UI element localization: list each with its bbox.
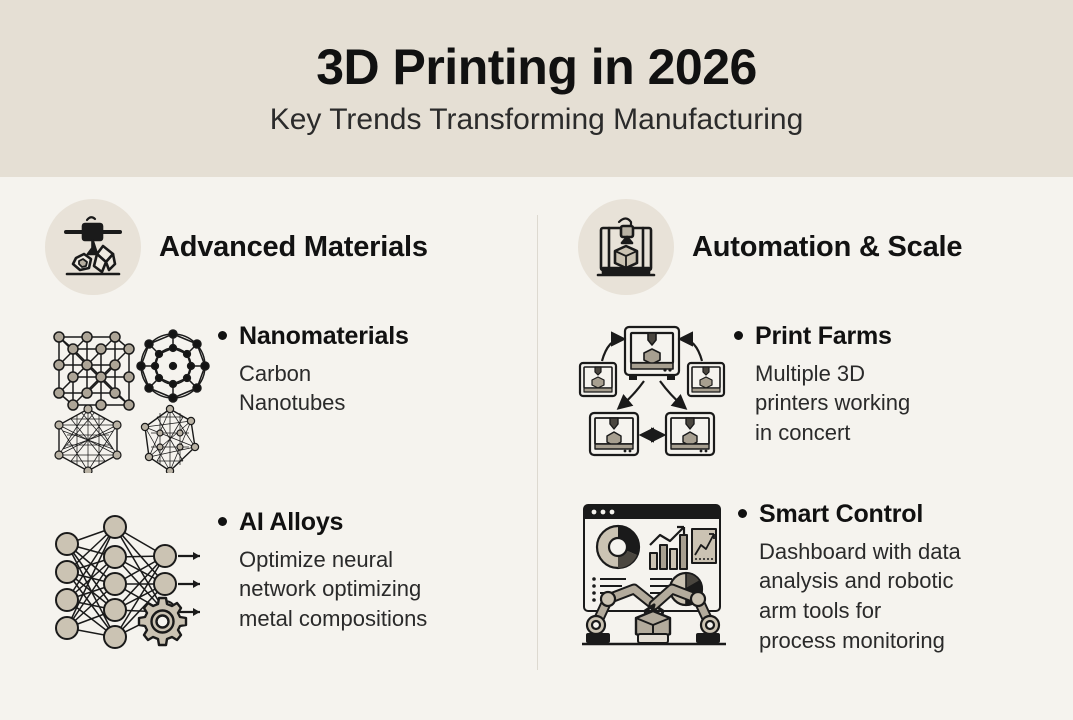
- feature-description: Carbon Nanotubes: [218, 359, 545, 419]
- feature-ai-alloys: AI Alloys Optimize neural network optimi…: [45, 505, 545, 654]
- feature-headline: Smart Control: [738, 501, 1073, 529]
- feature-description: Dashboard with data analysis and robotic…: [738, 537, 1073, 657]
- neural-network-gear-icon: [45, 505, 210, 654]
- feature-description-line: in concert: [755, 418, 1073, 448]
- header-band: 3D Printing in 2026 Key Trends Transform…: [0, 0, 1073, 177]
- feature-description-line: Dashboard with data: [759, 537, 1073, 567]
- feature-description-line: network optimizing: [239, 574, 545, 604]
- feature-description-line: metal compositions: [239, 604, 545, 634]
- feature-smart-control: Smart Control Dashboard with data analys…: [578, 497, 1073, 656]
- feature-text-nanomaterials: Nanomaterials Carbon Nanotubes: [218, 319, 545, 418]
- feature-description-line: Multiple 3D: [755, 359, 1073, 389]
- feature-headline: AI Alloys: [218, 509, 545, 537]
- feature-description-line: process monitoring: [759, 626, 1073, 656]
- page-subtitle: Key Trends Transforming Manufacturing: [270, 103, 804, 136]
- feature-description-line: Carbon: [239, 359, 545, 389]
- column-header-advanced-materials: Advanced Materials: [45, 177, 545, 287]
- bullet-icon: [218, 517, 227, 526]
- feature-description: Multiple 3D printers working in concert: [734, 359, 1073, 449]
- feature-description-line: Optimize neural: [239, 545, 545, 575]
- feature-headline: Nanomaterials: [218, 323, 545, 351]
- 3d-printer-extruder-icon: [45, 199, 141, 295]
- column-title: Advanced Materials: [159, 231, 428, 264]
- feature-title: Smart Control: [759, 501, 923, 529]
- feature-text-print-farms: Print Farms Multiple 3D printers working…: [734, 319, 1073, 448]
- feature-title: Nanomaterials: [239, 323, 409, 351]
- feature-description: Optimize neural network optimizing metal…: [218, 545, 545, 635]
- content-area: Advanced Materials: [0, 177, 1073, 720]
- feature-description-line: arm tools for: [759, 596, 1073, 626]
- printer-network-icon: [578, 319, 726, 465]
- column-header-automation-scale: Automation & Scale: [578, 177, 1073, 287]
- bullet-icon: [218, 331, 227, 340]
- bullet-icon: [738, 509, 747, 518]
- feature-title: AI Alloys: [239, 509, 343, 537]
- infographic-poster: 3D Printing in 2026 Key Trends Transform…: [0, 0, 1073, 720]
- feature-text-smart-control: Smart Control Dashboard with data analys…: [738, 497, 1073, 656]
- feature-print-farms: Print Farms Multiple 3D printers working…: [578, 319, 1073, 465]
- feature-title: Print Farms: [755, 323, 892, 351]
- feature-description-line: Nanotubes: [239, 388, 545, 418]
- feature-nanomaterials: Nanomaterials Carbon Nanotubes: [45, 319, 545, 473]
- column-automation-scale: Automation & Scale: [578, 177, 1073, 656]
- page-title: 3D Printing in 2026: [316, 41, 757, 94]
- dashboard-robot-arms-icon: [578, 497, 730, 649]
- feature-text-ai-alloys: AI Alloys Optimize neural network optimi…: [218, 505, 545, 634]
- feature-description-line: printers working: [755, 388, 1073, 418]
- column-title: Automation & Scale: [692, 231, 962, 264]
- molecular-lattice-grid-icon: [45, 319, 210, 473]
- 3d-printer-cube-icon: [578, 199, 674, 295]
- feature-headline: Print Farms: [734, 323, 1073, 351]
- bullet-icon: [734, 331, 743, 340]
- feature-description-line: analysis and robotic: [759, 566, 1073, 596]
- column-advanced-materials: Advanced Materials: [45, 177, 545, 654]
